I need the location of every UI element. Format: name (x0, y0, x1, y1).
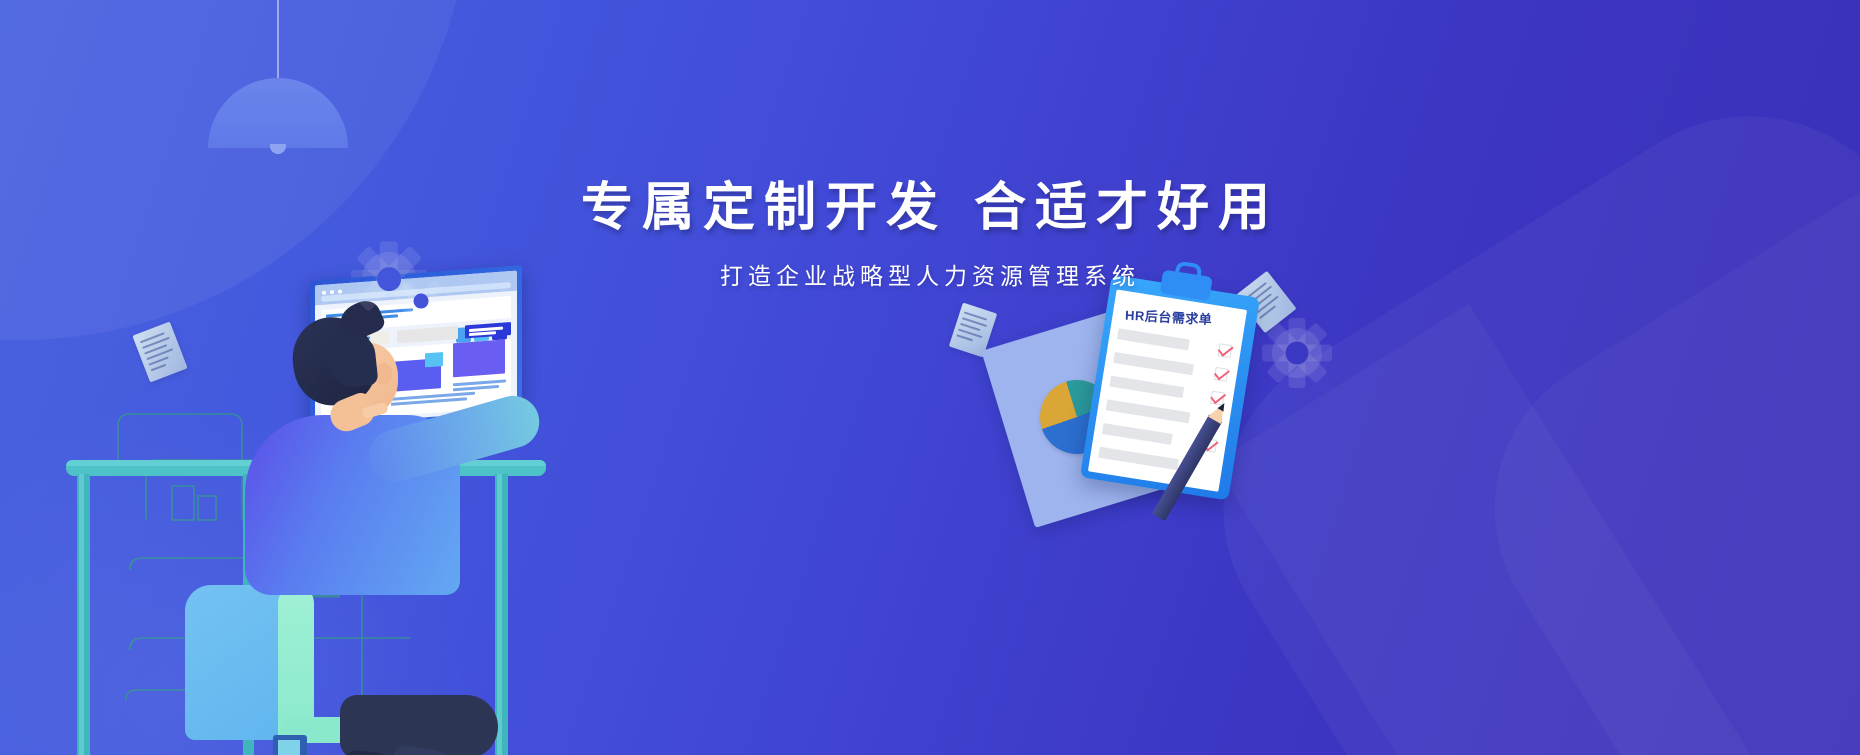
gear-hole (414, 294, 429, 309)
gear-icon-right (1272, 328, 1322, 378)
lamp-bulb (270, 144, 286, 154)
person-at-desk-illustration (40, 255, 560, 755)
page-title: 专属定制开发 合适才好用 (0, 178, 1860, 239)
clipboard-title: HR后台需求单 (1125, 305, 1213, 329)
pendant-lamp-icon (208, 0, 348, 160)
desk-leg-right-highlight (497, 474, 502, 755)
headline-block: 专属定制开发 合适才好用 打造企业战略型人力资源管理系统 (0, 178, 1860, 291)
gear-hole (1286, 342, 1309, 365)
background-diagonal-bottom-right (1159, 52, 1860, 755)
person-thigh (340, 695, 498, 755)
page-subtitle: 打造企业战略型人力资源管理系统 (0, 257, 1860, 291)
clipboard: HR后台需求单 (1080, 275, 1260, 501)
hr-clipboard-illustration: HR后台需求单 (1000, 270, 1260, 530)
hero-banner: HR后台需求单 (0, 0, 1860, 755)
lamp-cord (277, 0, 279, 82)
chair-post (278, 740, 300, 755)
lamp-shade (208, 78, 348, 148)
desk-leg-left-highlight (79, 474, 84, 755)
